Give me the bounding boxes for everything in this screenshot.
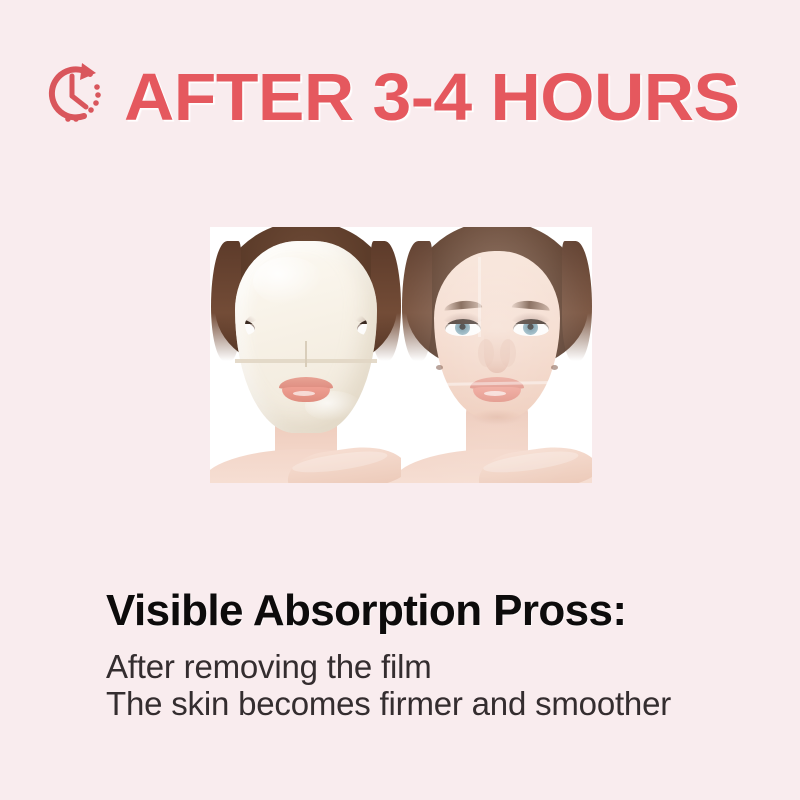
before-photo: [210, 227, 401, 483]
benefit-line-2: The skin becomes firmer and smoother: [106, 685, 671, 723]
lashes-right: [513, 319, 549, 324]
mask-eye-opening-right: [315, 311, 367, 345]
mask-mouth-opening: [270, 373, 342, 407]
nose: [484, 331, 510, 373]
absorbed-film-highlight: [478, 257, 481, 337]
mask-eye-opening-left: [245, 311, 297, 345]
hair-strand-right: [562, 241, 592, 361]
lip-gloss-highlight: [484, 391, 506, 396]
nostril-right: [551, 365, 558, 370]
after-photo: [401, 227, 592, 483]
mask-highlight-upper: [253, 257, 323, 305]
chin-shading: [471, 409, 523, 425]
eye-right: [513, 319, 549, 336]
mask-nose-slit: [305, 341, 307, 367]
hair-strand-left: [402, 241, 432, 361]
section-headline: Visible Absorption Pross:: [106, 586, 626, 636]
eye-left: [445, 319, 481, 336]
before-after-photo-panel: [210, 227, 592, 483]
lashes-left: [445, 319, 481, 324]
clock-arrow-icon: [32, 54, 112, 134]
page-title: AFTER 3-4 HOURS: [124, 48, 740, 148]
header-banner: AFTER 3-4 HOURS: [0, 48, 800, 148]
nostril-left: [436, 365, 443, 370]
benefit-line-1: After removing the film: [106, 648, 432, 686]
